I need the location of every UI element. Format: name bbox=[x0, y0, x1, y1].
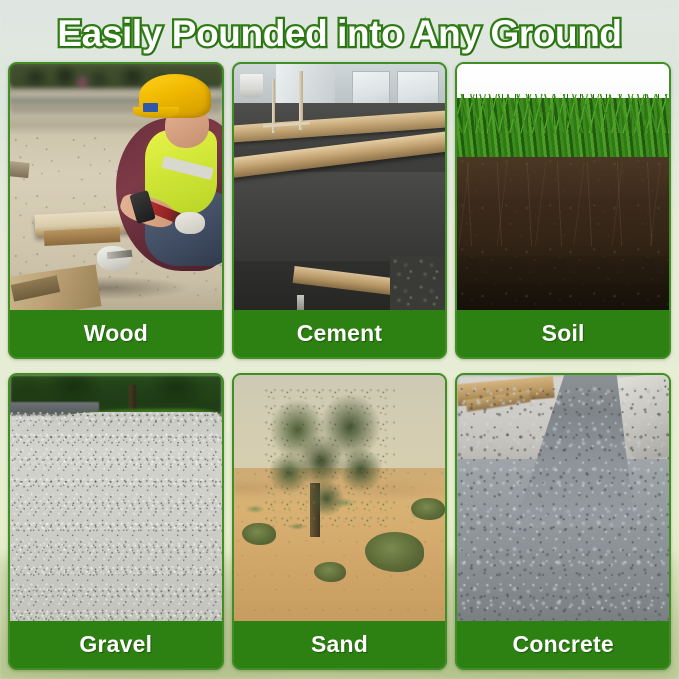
tree-foliage-texture bbox=[263, 387, 394, 530]
material-card-sand[interactable]: Sand bbox=[232, 373, 448, 670]
soil-cross-section-grass-photo bbox=[457, 64, 669, 310]
worker-hammering-wood-stake-photo bbox=[10, 64, 222, 310]
material-card-wood[interactable]: Wood bbox=[8, 62, 224, 359]
material-card-soil[interactable]: Soil bbox=[455, 62, 671, 359]
card-label-gravel: Gravel bbox=[79, 633, 152, 656]
label-bar-wood: Wood bbox=[10, 310, 222, 357]
desert-bush-4 bbox=[411, 498, 445, 520]
desert-bush-3 bbox=[314, 562, 346, 582]
material-card-gravel[interactable]: Gravel bbox=[8, 373, 224, 670]
material-card-cement[interactable]: Cement bbox=[232, 62, 448, 359]
chute-bolt-1 bbox=[664, 379, 666, 382]
label-bar-concrete: Concrete bbox=[457, 621, 669, 668]
desert-sand-tree-photo bbox=[234, 375, 446, 621]
material-card-concrete[interactable]: Concrete bbox=[455, 373, 671, 670]
wood-scrap-left bbox=[10, 161, 30, 178]
label-bar-cement: Cement bbox=[234, 310, 446, 357]
concrete-pour-chute-photo bbox=[457, 375, 669, 621]
gravel-driveway-photo bbox=[10, 375, 222, 621]
wood-plank-edge bbox=[44, 227, 121, 246]
card-label-soil: Soil bbox=[542, 322, 585, 345]
worker-glove-right bbox=[175, 212, 205, 234]
material-card-grid: Wood Cement bbox=[8, 62, 671, 670]
aggregate-texture-fine bbox=[457, 385, 669, 621]
label-bar-soil: Soil bbox=[457, 310, 669, 357]
card-label-concrete: Concrete bbox=[513, 633, 614, 656]
desert-bush-2 bbox=[242, 523, 276, 545]
hard-hat-badge bbox=[143, 103, 158, 112]
metal-bracket bbox=[297, 295, 303, 310]
desert-bush-1 bbox=[365, 532, 424, 571]
page-title: Easily Pounded into Any Ground bbox=[0, 12, 679, 56]
soil-texture bbox=[457, 157, 669, 310]
card-label-sand: Sand bbox=[311, 633, 368, 656]
gravel-patch bbox=[390, 256, 445, 310]
card-label-wood: Wood bbox=[84, 322, 148, 345]
grass-blades bbox=[457, 94, 669, 133]
gravel-stones-fine bbox=[10, 412, 222, 621]
card-label-cement: Cement bbox=[297, 322, 383, 345]
label-bar-sand: Sand bbox=[234, 621, 446, 668]
white-bucket bbox=[240, 74, 263, 99]
wet-cement-slab-forms-photo bbox=[234, 64, 446, 310]
label-bar-gravel: Gravel bbox=[10, 621, 222, 668]
